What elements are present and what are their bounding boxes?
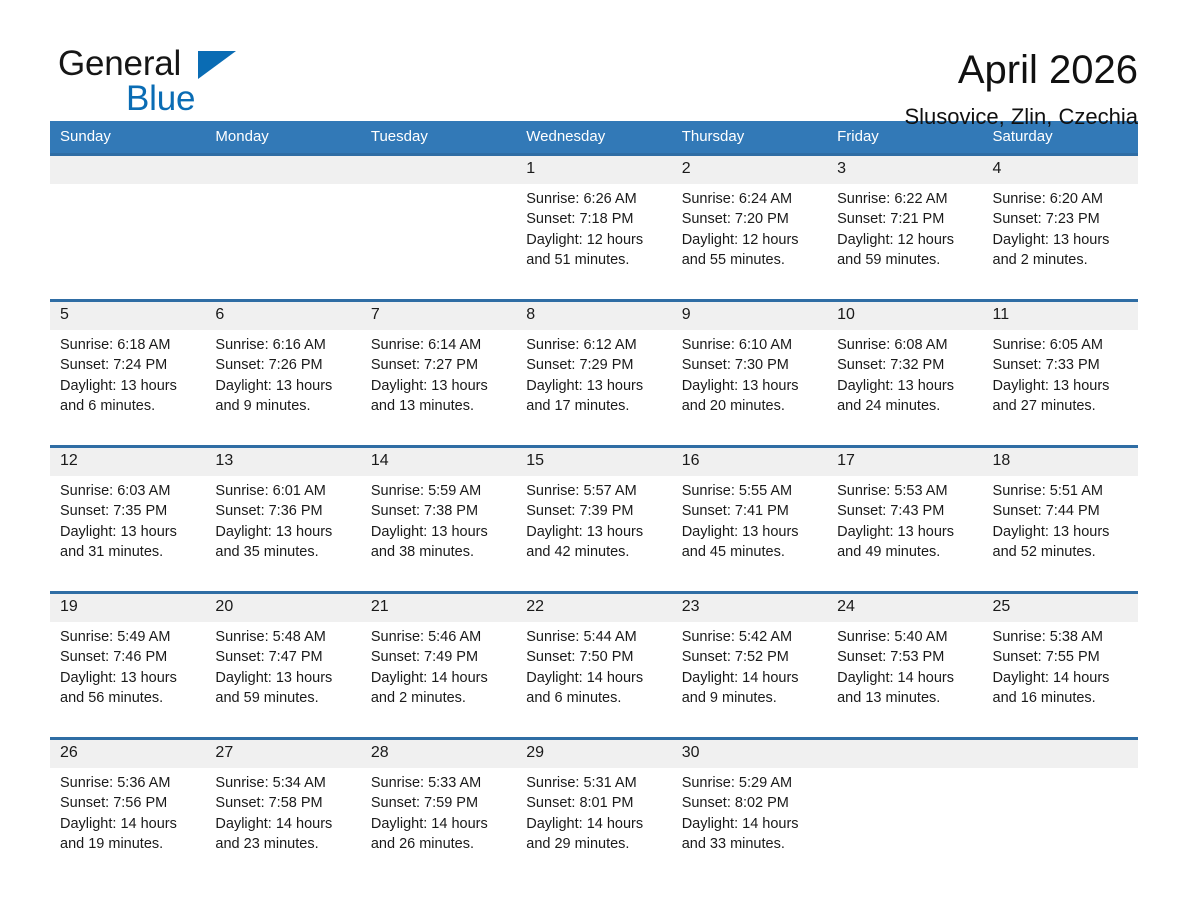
day-detail-line: Sunrise: 6:20 AM xyxy=(993,189,1130,209)
day-detail-cell[interactable]: Sunrise: 6:22 AMSunset: 7:21 PMDaylight:… xyxy=(827,184,982,301)
week-detail-row: Sunrise: 5:36 AMSunset: 7:56 PMDaylight:… xyxy=(50,768,1138,883)
day-number-cell[interactable]: 29 xyxy=(516,739,671,769)
week-daynumber-row: 2627282930 xyxy=(50,739,1138,769)
day-detail-line: Sunset: 7:24 PM xyxy=(60,355,197,375)
day-detail-line: Sunset: 8:02 PM xyxy=(682,793,819,813)
day-detail-line: Daylight: 14 hours xyxy=(371,814,508,834)
day-detail-line: Sunrise: 5:29 AM xyxy=(682,773,819,793)
day-detail-line: and 20 minutes. xyxy=(682,396,819,416)
day-detail-line: Daylight: 13 hours xyxy=(682,376,819,396)
day-detail-line: Sunset: 7:55 PM xyxy=(993,647,1130,667)
day-detail-cell[interactable]: Sunrise: 5:57 AMSunset: 7:39 PMDaylight:… xyxy=(516,476,671,593)
calendar-page: General Blue April 2026 Slusovice, Zlin,… xyxy=(0,0,1188,918)
day-detail-line: Daylight: 13 hours xyxy=(993,376,1130,396)
day-detail-line: Daylight: 13 hours xyxy=(215,376,352,396)
day-detail-line: and 19 minutes. xyxy=(60,834,197,854)
day-detail-line: Sunrise: 5:38 AM xyxy=(993,627,1130,647)
weekday-header-wednesday: Wednesday xyxy=(516,121,671,155)
day-detail-line: and 49 minutes. xyxy=(837,542,974,562)
day-detail-cell[interactable]: Sunrise: 5:36 AMSunset: 7:56 PMDaylight:… xyxy=(50,768,205,883)
day-detail-cell[interactable]: Sunrise: 5:46 AMSunset: 7:49 PMDaylight:… xyxy=(361,622,516,739)
day-detail-line: Daylight: 13 hours xyxy=(837,522,974,542)
day-detail-line: Daylight: 12 hours xyxy=(526,230,663,250)
day-detail-cell-empty xyxy=(983,768,1138,883)
day-detail-line: and 9 minutes. xyxy=(682,688,819,708)
day-detail-line: and 26 minutes. xyxy=(371,834,508,854)
day-detail-line: Sunset: 7:38 PM xyxy=(371,501,508,521)
day-detail-line: Sunrise: 5:46 AM xyxy=(371,627,508,647)
day-number-cell[interactable]: 3 xyxy=(827,155,982,185)
day-detail-line: Daylight: 13 hours xyxy=(526,376,663,396)
day-detail-line: Daylight: 14 hours xyxy=(60,814,197,834)
day-number-cell[interactable]: 25 xyxy=(983,593,1138,623)
day-detail-line: and 52 minutes. xyxy=(993,542,1130,562)
week-daynumber-row: 567891011 xyxy=(50,301,1138,331)
day-detail-line: Sunset: 7:23 PM xyxy=(993,209,1130,229)
day-detail-line: Sunset: 7:56 PM xyxy=(60,793,197,813)
day-detail-cell[interactable]: Sunrise: 6:03 AMSunset: 7:35 PMDaylight:… xyxy=(50,476,205,593)
day-number-cell[interactable]: 23 xyxy=(672,593,827,623)
day-detail-line: Sunrise: 6:01 AM xyxy=(215,481,352,501)
day-detail-line: Sunset: 7:35 PM xyxy=(60,501,197,521)
day-detail-cell[interactable]: Sunrise: 5:55 AMSunset: 7:41 PMDaylight:… xyxy=(672,476,827,593)
day-number-cell[interactable]: 22 xyxy=(516,593,671,623)
day-detail-cell[interactable]: Sunrise: 5:31 AMSunset: 8:01 PMDaylight:… xyxy=(516,768,671,883)
day-detail-line: Sunset: 7:39 PM xyxy=(526,501,663,521)
logo-text-general: General xyxy=(58,44,181,84)
day-detail-line: and 24 minutes. xyxy=(837,396,974,416)
day-detail-cell[interactable]: Sunrise: 5:42 AMSunset: 7:52 PMDaylight:… xyxy=(672,622,827,739)
day-detail-line: Daylight: 12 hours xyxy=(682,230,819,250)
day-detail-line: Sunrise: 6:03 AM xyxy=(60,481,197,501)
day-detail-line: Sunset: 7:58 PM xyxy=(215,793,352,813)
weekday-header-sunday: Sunday xyxy=(50,121,205,155)
day-detail-line: and 13 minutes. xyxy=(371,396,508,416)
day-detail-line: Sunset: 7:53 PM xyxy=(837,647,974,667)
day-detail-line: Sunrise: 6:08 AM xyxy=(837,335,974,355)
day-detail-line: Daylight: 13 hours xyxy=(371,522,508,542)
day-detail-line: Sunrise: 6:05 AM xyxy=(993,335,1130,355)
weekday-header-thursday: Thursday xyxy=(672,121,827,155)
day-detail-line: Sunrise: 6:26 AM xyxy=(526,189,663,209)
day-detail-line: and 17 minutes. xyxy=(526,396,663,416)
day-detail-line: Sunset: 7:49 PM xyxy=(371,647,508,667)
logo-triangle-icon xyxy=(198,51,236,79)
weekday-header-tuesday: Tuesday xyxy=(361,121,516,155)
day-detail-line: Sunrise: 5:53 AM xyxy=(837,481,974,501)
day-detail-cell[interactable]: Sunrise: 5:49 AMSunset: 7:46 PMDaylight:… xyxy=(50,622,205,739)
day-detail-line: and 38 minutes. xyxy=(371,542,508,562)
day-detail-line: and 56 minutes. xyxy=(60,688,197,708)
day-detail-line: and 55 minutes. xyxy=(682,250,819,270)
day-detail-cell[interactable]: Sunrise: 5:51 AMSunset: 7:44 PMDaylight:… xyxy=(983,476,1138,593)
day-detail-cell[interactable]: Sunrise: 6:16 AMSunset: 7:26 PMDaylight:… xyxy=(205,330,360,447)
day-detail-line: Daylight: 13 hours xyxy=(993,230,1130,250)
day-detail-cell-empty xyxy=(205,184,360,301)
day-detail-cell-empty xyxy=(361,184,516,301)
day-detail-line: Sunrise: 5:40 AM xyxy=(837,627,974,647)
day-detail-line: and 35 minutes. xyxy=(215,542,352,562)
day-detail-cell[interactable]: Sunrise: 5:59 AMSunset: 7:38 PMDaylight:… xyxy=(361,476,516,593)
day-number-cell[interactable]: 14 xyxy=(361,447,516,477)
day-detail-line: Sunset: 7:50 PM xyxy=(526,647,663,667)
day-detail-line: Sunset: 7:21 PM xyxy=(837,209,974,229)
day-detail-line: Sunrise: 5:36 AM xyxy=(60,773,197,793)
day-number-cell[interactable]: 5 xyxy=(50,301,205,331)
day-number-cell[interactable]: 2 xyxy=(672,155,827,185)
day-detail-line: Daylight: 13 hours xyxy=(60,522,197,542)
day-detail-line: and 23 minutes. xyxy=(215,834,352,854)
day-detail-cell[interactable]: Sunrise: 6:14 AMSunset: 7:27 PMDaylight:… xyxy=(361,330,516,447)
day-detail-line: Daylight: 13 hours xyxy=(371,376,508,396)
day-detail-line: Sunrise: 5:59 AM xyxy=(371,481,508,501)
day-detail-line: Sunset: 7:33 PM xyxy=(993,355,1130,375)
day-number-cell[interactable]: 4 xyxy=(983,155,1138,185)
day-detail-line: Sunrise: 5:55 AM xyxy=(682,481,819,501)
day-detail-line: and 51 minutes. xyxy=(526,250,663,270)
week-daynumber-row: 19202122232425 xyxy=(50,593,1138,623)
day-detail-line: and 31 minutes. xyxy=(60,542,197,562)
day-detail-line: Daylight: 13 hours xyxy=(682,522,819,542)
day-number-cell[interactable]: 30 xyxy=(672,739,827,769)
day-detail-line: Daylight: 13 hours xyxy=(837,376,974,396)
day-number-cell-empty xyxy=(205,155,360,185)
day-detail-line: Sunrise: 5:42 AM xyxy=(682,627,819,647)
day-detail-line: and 2 minutes. xyxy=(993,250,1130,270)
day-detail-line: Daylight: 14 hours xyxy=(993,668,1130,688)
day-detail-line: and 13 minutes. xyxy=(837,688,974,708)
day-number-cell[interactable]: 13 xyxy=(205,447,360,477)
weekday-header-monday: Monday xyxy=(205,121,360,155)
day-detail-line: Sunset: 7:30 PM xyxy=(682,355,819,375)
day-number-cell[interactable]: 15 xyxy=(516,447,671,477)
day-number-cell[interactable]: 26 xyxy=(50,739,205,769)
day-detail-line: Sunset: 7:36 PM xyxy=(215,501,352,521)
day-number-cell[interactable]: 6 xyxy=(205,301,360,331)
week-detail-row: Sunrise: 6:03 AMSunset: 7:35 PMDaylight:… xyxy=(50,476,1138,593)
day-detail-line: Daylight: 13 hours xyxy=(215,522,352,542)
day-number-cell-empty xyxy=(50,155,205,185)
day-detail-cell[interactable]: Sunrise: 6:20 AMSunset: 7:23 PMDaylight:… xyxy=(983,184,1138,301)
day-number-cell[interactable]: 21 xyxy=(361,593,516,623)
day-detail-line: and 6 minutes. xyxy=(526,688,663,708)
day-detail-line: Sunset: 7:43 PM xyxy=(837,501,974,521)
day-number-cell[interactable]: 20 xyxy=(205,593,360,623)
day-detail-cell[interactable]: Sunrise: 5:38 AMSunset: 7:55 PMDaylight:… xyxy=(983,622,1138,739)
day-detail-line: Sunset: 7:59 PM xyxy=(371,793,508,813)
sunrise-sunset-calendar: Sunday Monday Tuesday Wednesday Thursday… xyxy=(50,121,1138,883)
page-header: General Blue April 2026 Slusovice, Zlin,… xyxy=(50,0,1138,104)
page-title: April 2026 xyxy=(904,46,1138,94)
day-number-cell[interactable]: 28 xyxy=(361,739,516,769)
day-detail-cell[interactable]: Sunrise: 5:33 AMSunset: 7:59 PMDaylight:… xyxy=(361,768,516,883)
day-detail-line: Daylight: 14 hours xyxy=(526,668,663,688)
day-detail-line: and 27 minutes. xyxy=(993,396,1130,416)
day-number-cell[interactable]: 8 xyxy=(516,301,671,331)
day-detail-line: Sunset: 8:01 PM xyxy=(526,793,663,813)
day-detail-line: Sunrise: 6:12 AM xyxy=(526,335,663,355)
general-blue-logo[interactable]: General Blue xyxy=(50,44,250,118)
title-block: April 2026 Slusovice, Zlin, Czechia xyxy=(904,44,1138,132)
day-detail-line: Sunset: 7:29 PM xyxy=(526,355,663,375)
day-detail-line: Sunrise: 6:10 AM xyxy=(682,335,819,355)
day-detail-line: Sunset: 7:26 PM xyxy=(215,355,352,375)
day-detail-cell-empty xyxy=(50,184,205,301)
day-detail-cell[interactable]: Sunrise: 6:18 AMSunset: 7:24 PMDaylight:… xyxy=(50,330,205,447)
day-number-cell[interactable]: 10 xyxy=(827,301,982,331)
day-detail-line: Sunset: 7:46 PM xyxy=(60,647,197,667)
day-detail-line: Sunset: 7:41 PM xyxy=(682,501,819,521)
day-detail-cell[interactable]: Sunrise: 5:53 AMSunset: 7:43 PMDaylight:… xyxy=(827,476,982,593)
day-detail-line: Daylight: 13 hours xyxy=(60,376,197,396)
day-number-cell[interactable]: 24 xyxy=(827,593,982,623)
day-number-cell[interactable]: 9 xyxy=(672,301,827,331)
day-detail-line: Sunrise: 6:14 AM xyxy=(371,335,508,355)
day-detail-line: Sunset: 7:20 PM xyxy=(682,209,819,229)
day-detail-line: Sunrise: 5:49 AM xyxy=(60,627,197,647)
day-detail-line: Sunrise: 5:31 AM xyxy=(526,773,663,793)
day-number-cell[interactable]: 16 xyxy=(672,447,827,477)
day-detail-line: Sunrise: 6:22 AM xyxy=(837,189,974,209)
day-number-cell[interactable]: 7 xyxy=(361,301,516,331)
day-detail-line: and 29 minutes. xyxy=(526,834,663,854)
day-detail-line: Sunrise: 5:44 AM xyxy=(526,627,663,647)
day-detail-cell-empty xyxy=(827,768,982,883)
day-detail-line: Sunset: 7:32 PM xyxy=(837,355,974,375)
week-daynumber-row: 12131415161718 xyxy=(50,447,1138,477)
day-detail-line: and 59 minutes. xyxy=(837,250,974,270)
day-detail-line: Sunrise: 5:33 AM xyxy=(371,773,508,793)
day-detail-cell[interactable]: Sunrise: 5:48 AMSunset: 7:47 PMDaylight:… xyxy=(205,622,360,739)
day-detail-line: Sunrise: 6:24 AM xyxy=(682,189,819,209)
week-detail-row: Sunrise: 6:26 AMSunset: 7:18 PMDaylight:… xyxy=(50,184,1138,301)
day-number-cell[interactable]: 11 xyxy=(983,301,1138,331)
day-detail-cell[interactable]: Sunrise: 6:26 AMSunset: 7:18 PMDaylight:… xyxy=(516,184,671,301)
day-number-cell[interactable]: 12 xyxy=(50,447,205,477)
day-detail-cell[interactable]: Sunrise: 5:40 AMSunset: 7:53 PMDaylight:… xyxy=(827,622,982,739)
day-number-cell[interactable]: 19 xyxy=(50,593,205,623)
day-detail-line: Daylight: 14 hours xyxy=(837,668,974,688)
day-detail-line: and 59 minutes. xyxy=(215,688,352,708)
day-detail-line: and 33 minutes. xyxy=(682,834,819,854)
day-detail-line: Sunrise: 6:18 AM xyxy=(60,335,197,355)
day-detail-line: Sunset: 7:27 PM xyxy=(371,355,508,375)
week-detail-row: Sunrise: 6:18 AMSunset: 7:24 PMDaylight:… xyxy=(50,330,1138,447)
day-detail-line: and 42 minutes. xyxy=(526,542,663,562)
day-detail-line: Daylight: 14 hours xyxy=(526,814,663,834)
day-detail-line: and 2 minutes. xyxy=(371,688,508,708)
day-detail-line: Sunrise: 5:48 AM xyxy=(215,627,352,647)
day-detail-cell[interactable]: Sunrise: 5:34 AMSunset: 7:58 PMDaylight:… xyxy=(205,768,360,883)
day-number-cell-empty xyxy=(361,155,516,185)
day-detail-line: Daylight: 14 hours xyxy=(371,668,508,688)
day-detail-cell[interactable]: Sunrise: 6:08 AMSunset: 7:32 PMDaylight:… xyxy=(827,330,982,447)
day-number-cell[interactable]: 27 xyxy=(205,739,360,769)
day-number-cell[interactable]: 17 xyxy=(827,447,982,477)
day-detail-cell[interactable]: Sunrise: 6:12 AMSunset: 7:29 PMDaylight:… xyxy=(516,330,671,447)
week-daynumber-row: 1234 xyxy=(50,155,1138,185)
day-detail-line: Sunset: 7:44 PM xyxy=(993,501,1130,521)
day-detail-line: Sunrise: 5:51 AM xyxy=(993,481,1130,501)
day-detail-line: Daylight: 14 hours xyxy=(215,814,352,834)
day-detail-cell[interactable]: Sunrise: 5:44 AMSunset: 7:50 PMDaylight:… xyxy=(516,622,671,739)
day-detail-line: Daylight: 14 hours xyxy=(682,668,819,688)
day-number-cell[interactable]: 1 xyxy=(516,155,671,185)
day-detail-line: Sunrise: 6:16 AM xyxy=(215,335,352,355)
day-detail-cell[interactable]: Sunrise: 6:10 AMSunset: 7:30 PMDaylight:… xyxy=(672,330,827,447)
day-number-cell-empty xyxy=(827,739,982,769)
day-detail-line: Daylight: 14 hours xyxy=(682,814,819,834)
day-detail-cell[interactable]: Sunrise: 5:29 AMSunset: 8:02 PMDaylight:… xyxy=(672,768,827,883)
day-number-cell-empty xyxy=(983,739,1138,769)
day-detail-line: Daylight: 13 hours xyxy=(215,668,352,688)
day-detail-line: and 16 minutes. xyxy=(993,688,1130,708)
day-number-cell[interactable]: 18 xyxy=(983,447,1138,477)
day-detail-line: Sunrise: 5:57 AM xyxy=(526,481,663,501)
day-detail-line: Sunset: 7:18 PM xyxy=(526,209,663,229)
day-detail-line: Sunrise: 5:34 AM xyxy=(215,773,352,793)
calendar-body: 1234Sunrise: 6:26 AMSunset: 7:18 PMDayli… xyxy=(50,155,1138,884)
day-detail-line: Daylight: 13 hours xyxy=(993,522,1130,542)
day-detail-cell[interactable]: Sunrise: 6:24 AMSunset: 7:20 PMDaylight:… xyxy=(672,184,827,301)
day-detail-line: and 9 minutes. xyxy=(215,396,352,416)
logo-text-blue: Blue xyxy=(126,79,195,119)
day-detail-line: and 6 minutes. xyxy=(60,396,197,416)
week-detail-row: Sunrise: 5:49 AMSunset: 7:46 PMDaylight:… xyxy=(50,622,1138,739)
day-detail-line: Sunset: 7:47 PM xyxy=(215,647,352,667)
day-detail-line: Sunset: 7:52 PM xyxy=(682,647,819,667)
day-detail-line: Daylight: 13 hours xyxy=(60,668,197,688)
day-detail-line: Daylight: 12 hours xyxy=(837,230,974,250)
day-detail-cell[interactable]: Sunrise: 6:01 AMSunset: 7:36 PMDaylight:… xyxy=(205,476,360,593)
day-detail-line: Daylight: 13 hours xyxy=(526,522,663,542)
day-detail-cell[interactable]: Sunrise: 6:05 AMSunset: 7:33 PMDaylight:… xyxy=(983,330,1138,447)
day-detail-line: and 45 minutes. xyxy=(682,542,819,562)
